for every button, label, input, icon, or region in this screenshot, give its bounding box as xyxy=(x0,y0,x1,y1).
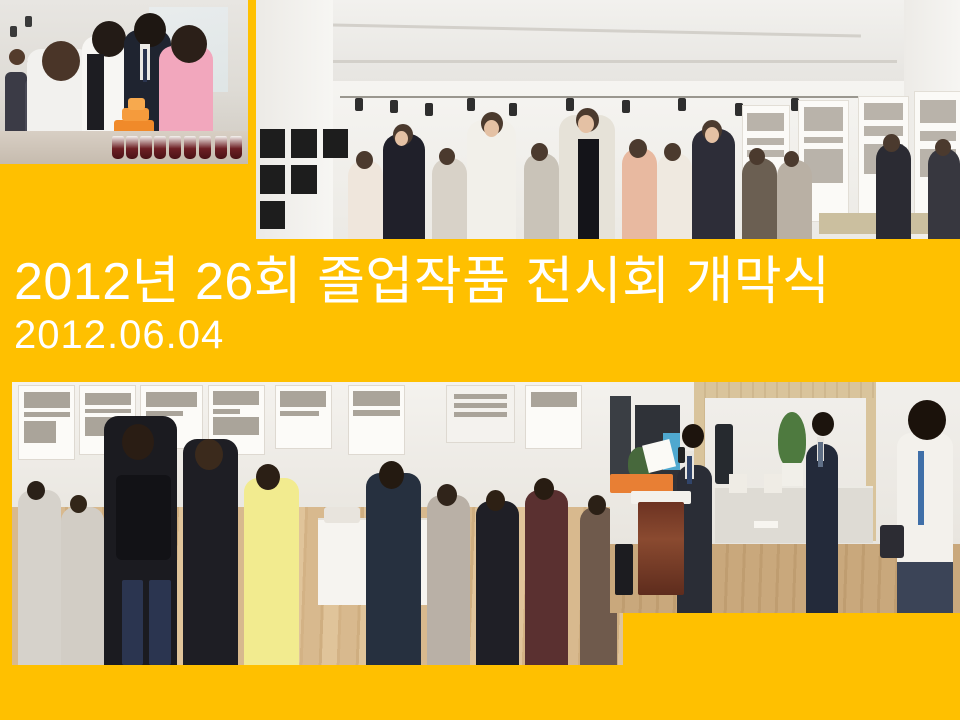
person-head xyxy=(42,41,80,81)
exhibition-poster xyxy=(525,385,582,449)
potted-plant-icon xyxy=(778,412,806,467)
framed-artwork xyxy=(291,165,316,194)
title-block: 2012년 26회 졸업작품 전시회 개막식 2012.06.04 xyxy=(14,252,944,358)
guest-head xyxy=(531,143,548,161)
guest-person xyxy=(622,148,657,239)
person-head xyxy=(134,13,166,47)
ceiling-beam xyxy=(333,60,896,63)
track-light-icon xyxy=(390,100,398,113)
inner-shirt xyxy=(578,139,599,239)
wine-glass xyxy=(230,136,242,159)
necktie xyxy=(687,456,692,484)
reception-scene xyxy=(12,382,623,665)
floor-label xyxy=(754,521,779,528)
lanyard xyxy=(918,451,924,525)
equipment-case xyxy=(880,525,905,557)
guest-face xyxy=(705,127,719,143)
ceiling-spotlight-icon xyxy=(10,26,17,37)
guest-person xyxy=(742,158,777,239)
track-light-icon xyxy=(678,98,686,111)
guest-person xyxy=(476,501,519,665)
smiling-guest-head xyxy=(908,400,946,440)
cake-tier-middle xyxy=(122,108,149,121)
guest-person xyxy=(467,120,516,240)
guest-person xyxy=(524,153,559,239)
exhibition-poster xyxy=(446,385,515,444)
wine-glass xyxy=(154,136,166,159)
guest-person xyxy=(692,129,734,239)
framed-artwork xyxy=(260,129,285,158)
guest-head xyxy=(356,151,373,169)
student-person xyxy=(183,439,238,665)
cake-tier-top xyxy=(128,98,145,109)
necktie xyxy=(818,442,823,467)
guest-person xyxy=(657,153,692,239)
student-head xyxy=(379,461,404,489)
track-light-icon xyxy=(355,98,363,111)
guest-person xyxy=(525,490,568,665)
guest-head xyxy=(749,148,765,165)
track-light-icon xyxy=(509,103,517,116)
cake-cutting-scene xyxy=(0,0,248,164)
wine-glass xyxy=(112,136,124,159)
cake-cutting-photo xyxy=(0,0,248,164)
guest-head xyxy=(784,151,799,167)
wine-glass xyxy=(140,136,152,159)
podium-scene xyxy=(610,382,960,613)
track-light-icon xyxy=(467,98,475,111)
microphone-icon xyxy=(678,447,684,463)
track-light-icon xyxy=(566,98,574,111)
guest-person xyxy=(427,495,470,665)
event-date: 2012.06.04 xyxy=(14,312,944,358)
guest-head xyxy=(629,139,647,158)
exhibition-poster xyxy=(18,385,75,461)
wine-glass xyxy=(184,136,196,159)
guest-person xyxy=(928,148,960,239)
lectern xyxy=(638,502,684,594)
track-light-icon xyxy=(425,103,433,116)
guest-head xyxy=(486,490,505,511)
wine-glass-row xyxy=(109,136,248,159)
student-head xyxy=(195,439,223,470)
guest-person xyxy=(18,490,61,665)
framed-artwork xyxy=(323,129,348,158)
framed-artwork xyxy=(260,165,285,194)
person-head xyxy=(171,25,207,63)
guest-person xyxy=(876,143,911,239)
page-title: 2012년 26회 졸업작품 전시회 개막식 xyxy=(14,252,944,312)
track-light-icon xyxy=(622,100,630,113)
exhibition-poster xyxy=(348,385,405,455)
light-track xyxy=(340,96,861,98)
guest-person xyxy=(348,160,383,239)
guest-head xyxy=(883,134,900,152)
student-person xyxy=(366,473,421,665)
gallery-group-scene xyxy=(256,0,960,239)
ceiling-spotlight-icon xyxy=(25,16,32,27)
display-pedestal xyxy=(764,474,782,492)
guest-person xyxy=(432,158,467,239)
guest-face xyxy=(484,120,499,137)
background-guest-head xyxy=(9,49,25,65)
mc-head xyxy=(682,424,704,448)
wooden-ceiling-beam xyxy=(694,382,876,398)
gallery-ceiling xyxy=(256,0,960,81)
framed-artwork xyxy=(291,129,316,158)
wine-glass xyxy=(126,136,138,159)
jeans-leg xyxy=(122,580,143,665)
jeans xyxy=(897,562,953,613)
wine-glass xyxy=(199,136,211,159)
display-stage xyxy=(715,486,873,543)
necktie xyxy=(143,49,147,82)
framed-artwork xyxy=(260,201,285,230)
guest-person xyxy=(777,160,812,239)
student-yellow-shirt xyxy=(244,478,299,665)
guest-head xyxy=(437,484,457,506)
jeans-leg xyxy=(149,580,170,665)
person-head xyxy=(92,21,126,57)
person-inner-shirt xyxy=(87,54,104,129)
suited-guest xyxy=(806,444,838,613)
guest-head xyxy=(935,139,951,156)
podium-speech-photo xyxy=(610,382,960,613)
exhibition-poster xyxy=(275,385,332,449)
guest-head xyxy=(588,495,606,515)
wine-glass xyxy=(169,136,181,159)
presentation-slide: 2012년 26회 졸업작품 전시회 개막식 2012.06.04 xyxy=(0,0,960,720)
tableware xyxy=(324,507,361,524)
group-photo xyxy=(256,0,960,239)
guest-person xyxy=(61,507,104,665)
backpack xyxy=(116,475,171,560)
reception-crowd-photo xyxy=(12,382,623,665)
wine-glass xyxy=(215,136,227,159)
guest-person xyxy=(383,134,425,239)
display-pedestal xyxy=(729,474,747,492)
floor-speaker xyxy=(615,544,633,595)
